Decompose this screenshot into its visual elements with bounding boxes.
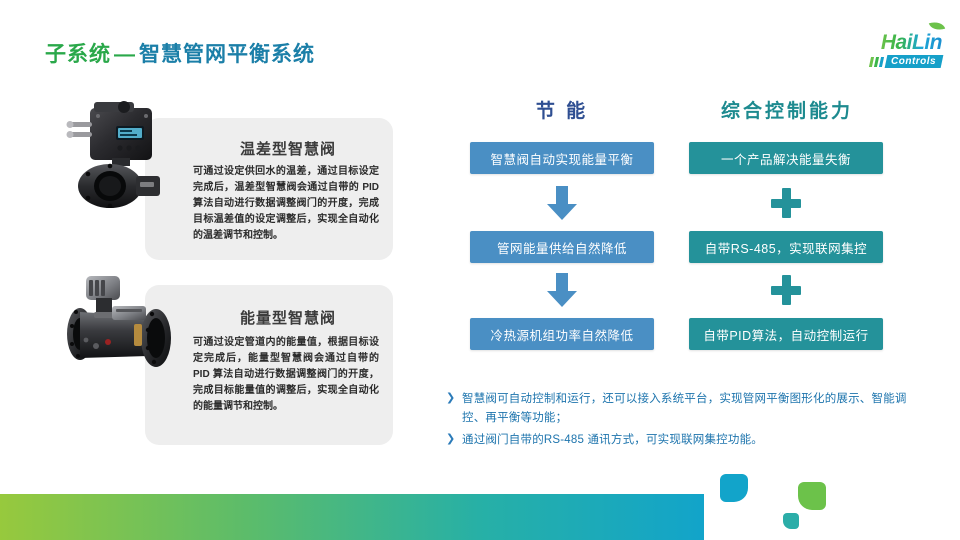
flow-box-left-2[interactable]: 管网能量供给自然降低: [470, 231, 654, 263]
energy-type-smart-valve-photo: [52, 268, 194, 378]
logo-controls-text: Controls: [891, 56, 936, 67]
chevron-right-icon: ❯: [446, 390, 462, 404]
column-heading-energy-saving: 节 能: [470, 96, 654, 123]
thermal-differential-smart-valve-photo: [60, 96, 182, 208]
column-heading-control-capability: 综合控制能力: [692, 96, 882, 123]
list-item: ❯ 通过阀门自带的RS-485 通讯方式，可实现联网集控功能。: [446, 431, 916, 450]
plus-icon: [771, 188, 801, 218]
list-item: ❯ 智慧阀可自动控制和运行，还可以接入系统平台，实现管网平衡图形化的展示、智能调…: [446, 390, 916, 428]
chevron-right-icon: ❯: [446, 431, 462, 445]
footer-green-square: [798, 482, 826, 510]
flow-box-left-3[interactable]: 冷热源机组功率自然降低: [470, 318, 654, 350]
arrow-down-icon: [547, 186, 577, 220]
plus-icon: [771, 275, 801, 305]
flow-box-right-1[interactable]: 一个产品解决能量失衡: [689, 142, 883, 174]
arrow-down-icon: [547, 273, 577, 307]
brand-logo: HaiLin Controls: [824, 28, 942, 72]
slide-root: 子系统—智慧管网平衡系统 HaiLin Controls 温差型智慧阀 可通过设…: [0, 0, 960, 540]
logo-subline: Controls: [870, 55, 942, 68]
page-title-secondary: 智慧管网平衡系统: [139, 43, 315, 66]
footer-step-top: [720, 474, 748, 502]
card-body: 可通过设定供回水的温差，通过目标设定完成后，温差型智慧阀会通过自带的 PID 算…: [193, 164, 379, 244]
page-title-primary: 子系统: [45, 43, 111, 66]
page-title-dash: —: [111, 43, 139, 66]
bullet-text: 通过阀门自带的RS-485 通讯方式，可实现联网集控功能。: [462, 431, 916, 450]
logo-wordmark: HaiLin: [881, 32, 942, 53]
logo-controls-tag: Controls: [885, 55, 944, 68]
page-title: 子系统—智慧管网平衡系统: [45, 38, 315, 68]
footer-step-shape: [704, 494, 748, 540]
card-body: 可通过设定管道内的能量值，根据目标设定完成后，能量型智慧阀会通过自带的 PID …: [193, 335, 379, 415]
bullet-text: 智慧阀可自动控制和运行，还可以接入系统平台，实现管网平衡图形化的展示、智能调控、…: [462, 390, 916, 428]
bullet-list: ❯ 智慧阀可自动控制和运行，还可以接入系统平台，实现管网平衡图形化的展示、智能调…: [446, 390, 916, 453]
flow-box-right-3[interactable]: 自带PID算法，自动控制运行: [689, 318, 883, 350]
logo-bars-icon: [870, 57, 883, 67]
card-thermal-valve: 温差型智慧阀 可通过设定供回水的温差，通过目标设定完成后，温差型智慧阀会通过自带…: [145, 118, 393, 260]
flow-box-left-1[interactable]: 智慧阀自动实现能量平衡: [470, 142, 654, 174]
flow-box-right-2[interactable]: 自带RS-485，实现联网集控: [689, 231, 883, 263]
footer-gradient-bar: [0, 494, 704, 540]
footer-small-square: [783, 513, 799, 529]
card-title: 温差型智慧阀: [145, 138, 393, 159]
